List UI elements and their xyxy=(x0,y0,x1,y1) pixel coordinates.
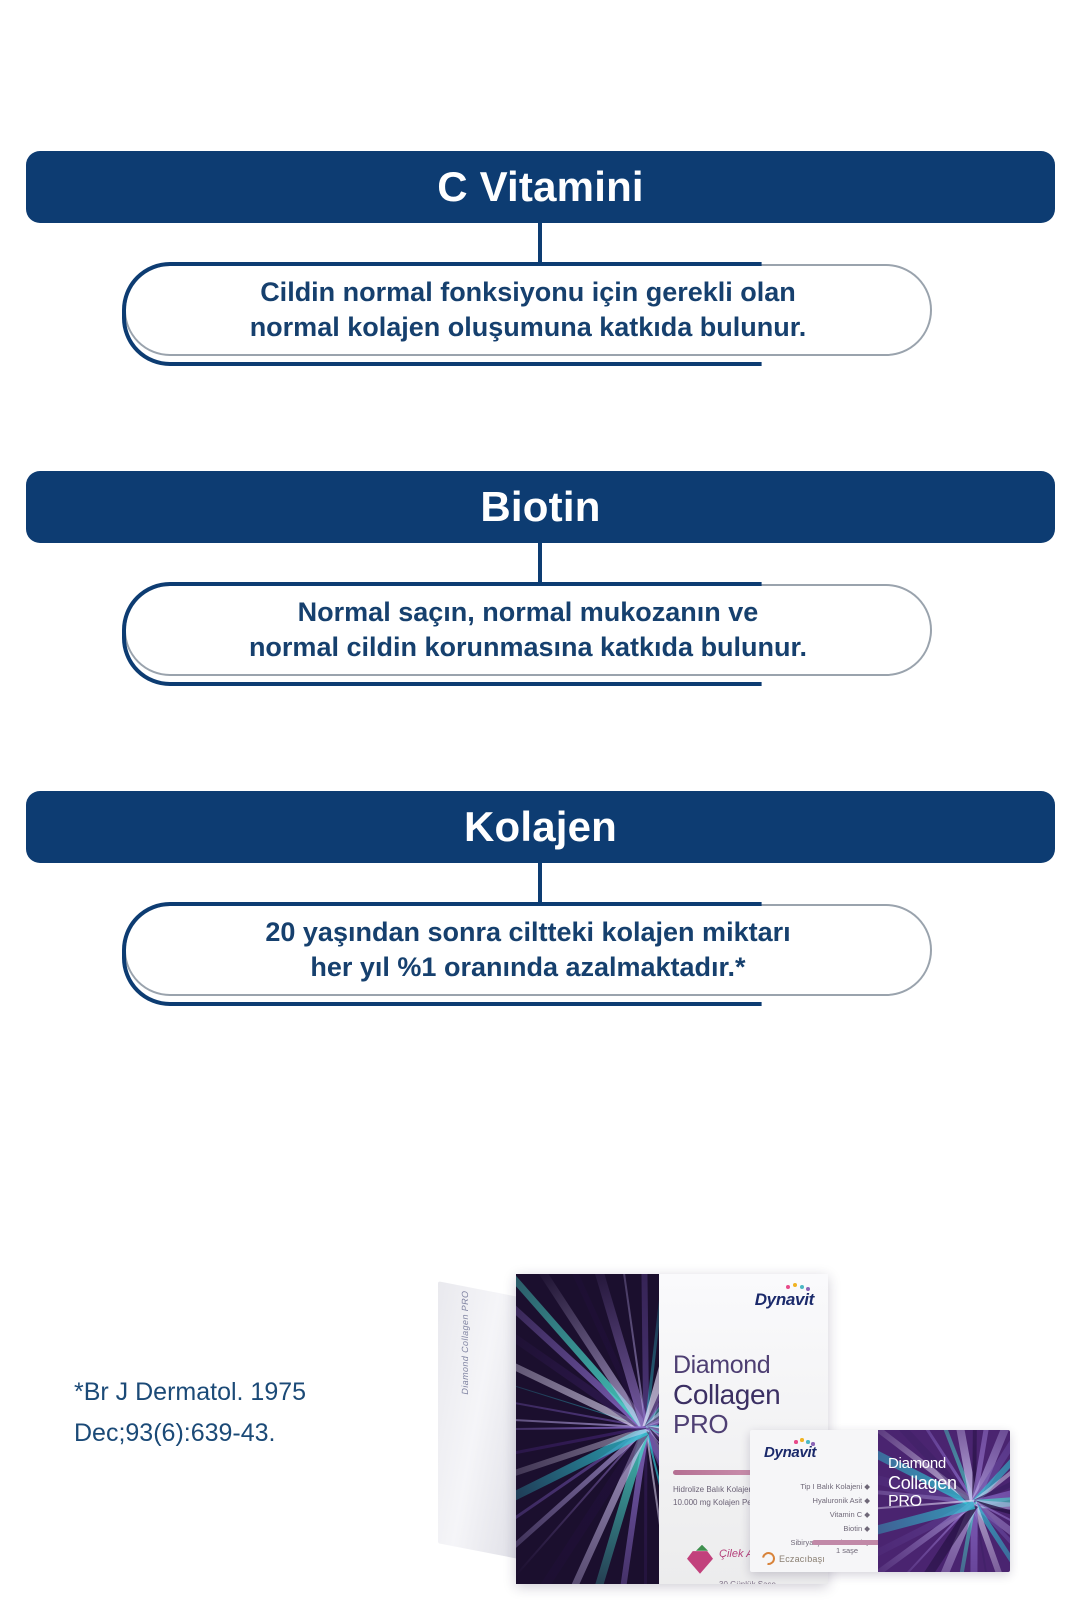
product-sachet: Dynavit Tip I Balık Kolajeni ◆ Hyaluroni… xyxy=(750,1430,1010,1572)
product-box-side-text: Diamond Collagen PRO xyxy=(460,1289,470,1395)
dynavit-logo-sachet-text: Dynavit xyxy=(764,1444,816,1461)
eczacibasi-logo-text: Eczacıbaşı xyxy=(779,1554,825,1564)
benefit-text-kolajen: 20 yaşından sonra ciltteki kolajen mikta… xyxy=(239,915,816,984)
dynavit-dots-icon-sachet xyxy=(794,1438,816,1445)
connector-line-biotin xyxy=(538,543,542,589)
footnote-reference: *Br J Dermatol. 1975 Dec;93(6):639-43. xyxy=(74,1372,404,1453)
product-box-name-line1: Diamond xyxy=(673,1352,780,1380)
dynavit-logo: Dynavit xyxy=(755,1290,814,1310)
dynavit-logo-sachet: Dynavit xyxy=(764,1444,816,1461)
product-sachet-name-line3: PRO xyxy=(888,1493,957,1511)
benefit-title-biotin: Biotin xyxy=(480,486,600,528)
benefit-title-kolajen: Kolajen xyxy=(464,806,617,848)
product-sachet-name-line1: Diamond xyxy=(888,1456,957,1473)
benefit-title-vitamin-c: C Vitamini xyxy=(437,166,644,208)
eczacibasi-logo: Eczacıbaşı xyxy=(762,1552,825,1565)
product-sachet-unit: 1 saşe xyxy=(836,1546,858,1555)
diamond-facet-graphic-icon xyxy=(516,1274,659,1584)
leaf-icon xyxy=(696,1545,708,1551)
eczacibasi-mark-icon xyxy=(759,1549,777,1567)
connector-line-vitamin-c xyxy=(538,223,542,269)
diamond-facet-graphic-sachet-icon: Diamond Collagen PRO xyxy=(878,1430,1010,1572)
diamond-gem-icon xyxy=(687,1550,713,1574)
flavor-sublabel: 30 Günlük Saşe xyxy=(719,1580,776,1584)
product-image: Diamond Collagen PRO Dynavit Diamond Co xyxy=(420,1228,1020,1620)
benefit-text-biotin: Normal saçın, normal mukozanın ve normal… xyxy=(223,595,833,664)
benefit-header-vitamin-c: C Vitamini xyxy=(26,151,1055,223)
benefit-header-kolajen: Kolajen xyxy=(26,791,1055,863)
benefit-capsule-vitamin-c: Cildin normal fonksiyonu için gerekli ol… xyxy=(124,264,932,356)
infographic-page: C Vitamini Cildin normal fonksiyonu için… xyxy=(0,0,1080,1620)
product-sachet-name-line2: Collagen xyxy=(888,1473,957,1493)
benefit-text-vitamin-c: Cildin normal fonksiyonu için gerekli ol… xyxy=(224,275,833,344)
product-box-name-line2: Collagen xyxy=(673,1380,780,1411)
benefit-header-biotin: Biotin xyxy=(26,471,1055,543)
product-box-name: Diamond Collagen PRO xyxy=(673,1352,780,1439)
benefit-capsule-biotin: Normal saçın, normal mukozanın ve normal… xyxy=(124,584,932,676)
dynavit-dots-icon xyxy=(786,1283,812,1291)
benefit-capsule-kolajen: 20 yaşından sonra ciltteki kolajen mikta… xyxy=(124,904,932,996)
dynavit-logo-text: Dynavit xyxy=(755,1290,814,1309)
product-sachet-label-panel: Dynavit Tip I Balık Kolajeni ◆ Hyaluroni… xyxy=(750,1430,878,1572)
product-sachet-name: Diamond Collagen PRO xyxy=(888,1456,957,1511)
product-sachet-ingredients: Tip I Balık Kolajeni ◆ Hyaluronik Asit ◆… xyxy=(790,1480,870,1549)
connector-line-kolajen xyxy=(538,863,542,909)
product-box-side-panel: Diamond Collagen PRO xyxy=(438,1281,528,1560)
